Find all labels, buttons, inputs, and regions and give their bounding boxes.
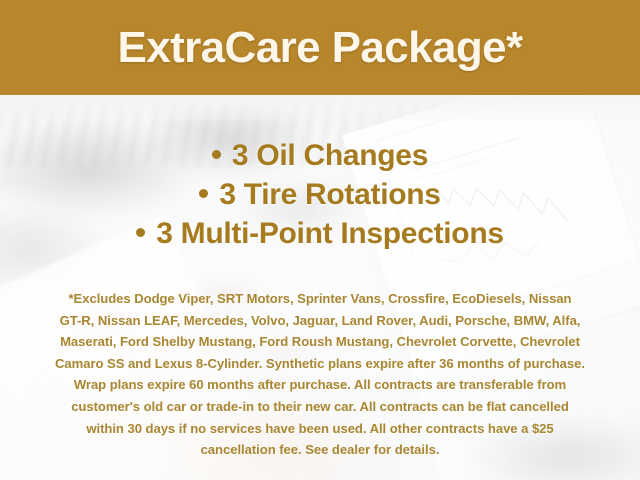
disclaimer-line: Maserati, Ford Shelby Mustang, Ford Rous… xyxy=(34,331,606,353)
photo-top-fade xyxy=(0,95,640,121)
disclaimer-line: Camaro SS and Lexus 8-Cylinder. Syntheti… xyxy=(34,353,606,375)
disclaimer-line: cancellation fee. See dealer for details… xyxy=(34,439,606,461)
benefit-item: 3 Multi-Point Inspections xyxy=(0,214,640,253)
disclaimer-line: GT-R, Nissan LEAF, Mercedes, Volvo, Jagu… xyxy=(34,310,606,332)
bullet-dot-icon xyxy=(199,189,208,198)
page-title: ExtraCare Package* xyxy=(117,26,522,70)
disclaimer-line: Wrap plans expire 60 months after purcha… xyxy=(34,374,606,396)
header-band: ExtraCare Package* xyxy=(0,0,640,95)
benefit-item: 3 Tire Rotations xyxy=(0,175,640,214)
benefit-item-label: 3 Multi-Point Inspections xyxy=(156,217,504,250)
disclaimer-line: within 30 days if no services have been … xyxy=(34,418,606,440)
extracare-package-graphic: ExtraCare Package* 3 Oil Changes 3 Tire … xyxy=(0,0,640,480)
benefits-list: 3 Oil Changes 3 Tire Rotations 3 Multi-P… xyxy=(0,136,640,253)
bullet-dot-icon xyxy=(136,228,145,237)
benefit-item: 3 Oil Changes xyxy=(0,136,640,175)
disclaimer-text: *Excludes Dodge Viper, SRT Motors, Sprin… xyxy=(34,288,606,461)
disclaimer-line: customer's old car or trade-in to their … xyxy=(34,396,606,418)
bullet-dot-icon xyxy=(212,150,221,159)
benefit-item-label: 3 Oil Changes xyxy=(232,139,428,172)
disclaimer-line: *Excludes Dodge Viper, SRT Motors, Sprin… xyxy=(34,288,606,310)
benefit-item-label: 3 Tire Rotations xyxy=(219,178,440,211)
